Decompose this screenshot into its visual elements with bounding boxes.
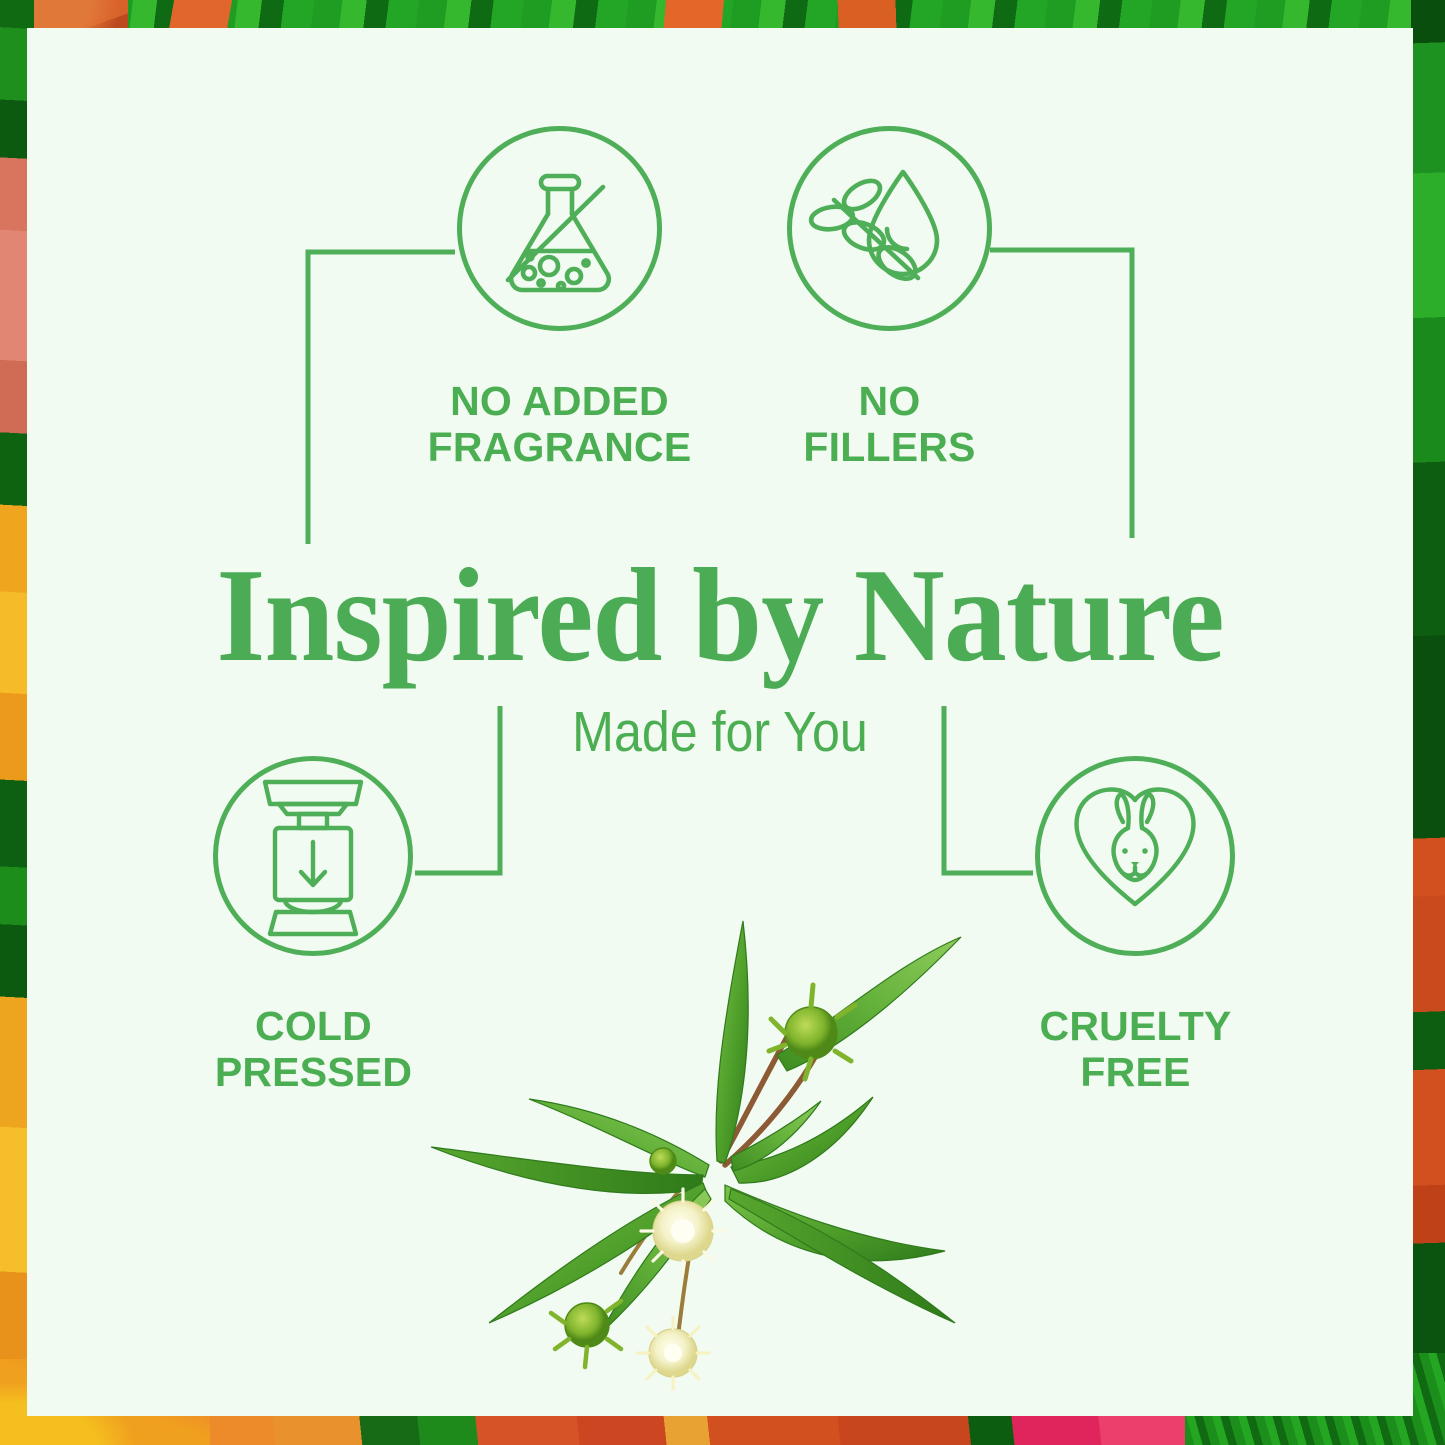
content-panel: Inspired by Nature Made for You [27, 28, 1413, 1416]
badge-label-line-2: FILLERS [727, 425, 1052, 471]
bhringraj-plant-photo [425, 893, 1005, 1393]
headline-block: Inspired by Nature Made for You [27, 548, 1413, 761]
badge-label-line-2: FREE [973, 1050, 1298, 1096]
press-machine-icon [213, 756, 413, 956]
border-right-strip [1411, 0, 1445, 1445]
badge-label-line-1: NO ADDED [397, 379, 722, 425]
flask-no-fragrance-icon [457, 126, 662, 331]
badge-label: CRUELTY FREE [973, 1004, 1298, 1096]
page-subtitle: Made for You [110, 704, 1330, 761]
badge-label-line-1: NO [727, 379, 1052, 425]
heart-bunny-icon [1035, 756, 1235, 956]
droplet-leaf-icon [787, 126, 992, 331]
badge-label-line-2: FRAGRANCE [397, 425, 722, 471]
infographic-canvas: Inspired by Nature Made for You [0, 0, 1445, 1445]
page-title: Inspired by Nature [69, 548, 1372, 682]
badge-label-line-1: CRUELTY [973, 1004, 1298, 1050]
badge-label: NO ADDED FRAGRANCE [397, 379, 722, 471]
badge-label: NO FILLERS [727, 379, 1052, 471]
